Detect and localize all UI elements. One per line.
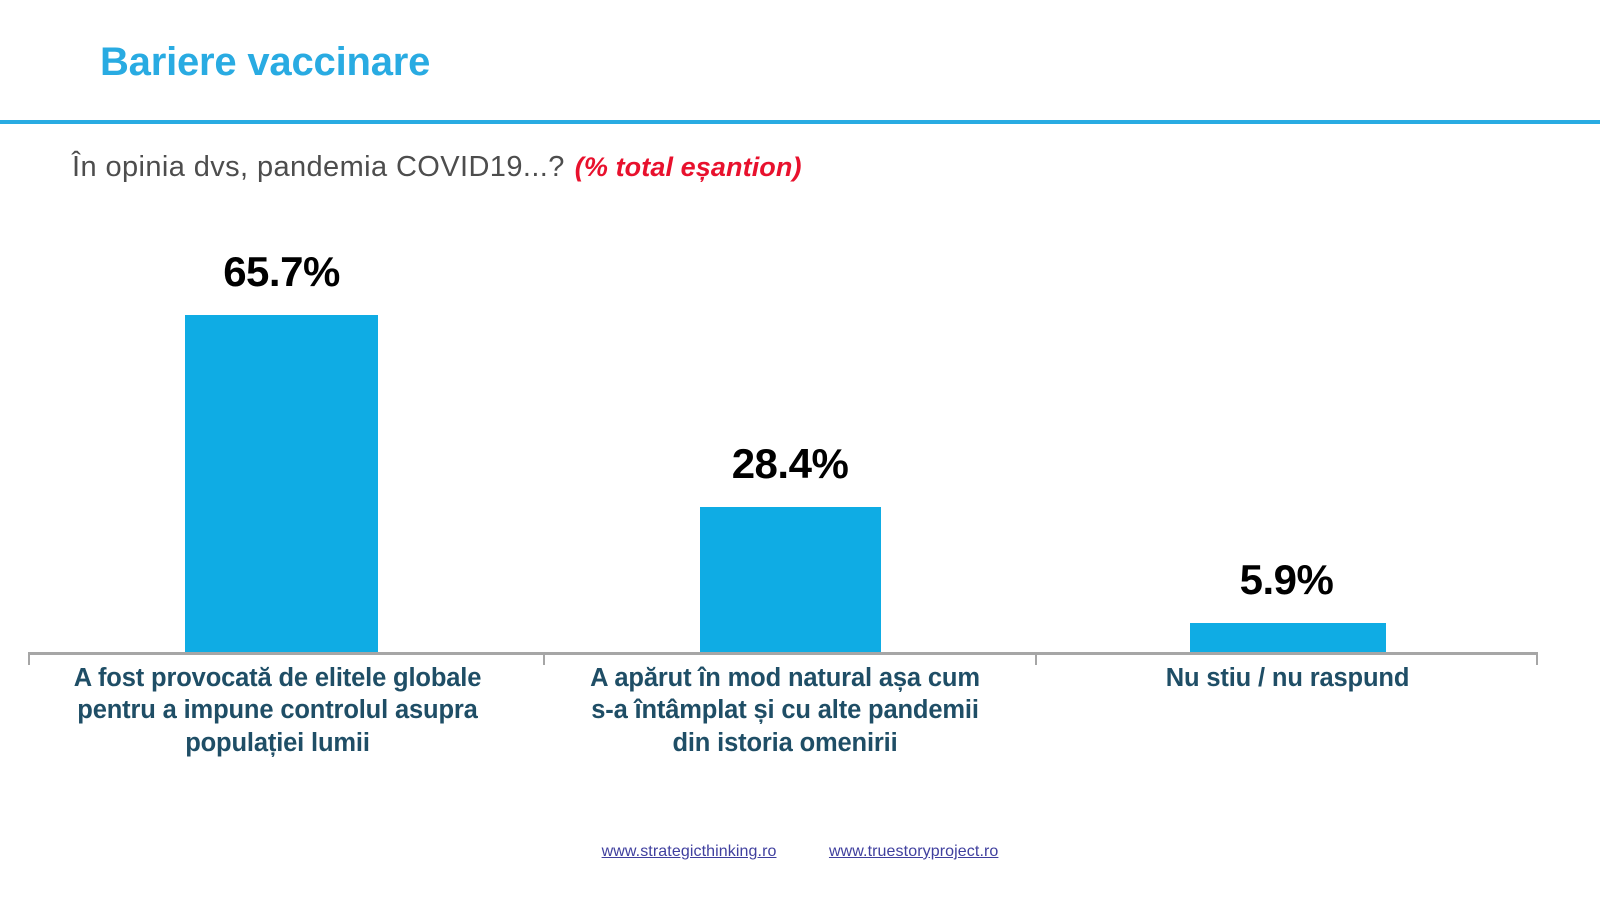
- x-axis-category-label: Nu stiu / nu raspund: [1040, 662, 1535, 694]
- bar-chart: 65.7% 28.4% 5.9% A fost provocată de eli…: [0, 0, 1600, 900]
- x-axis-category-label-line: pentru a impune controlul asupra: [20, 694, 535, 726]
- bar-value-label: 65.7%: [185, 248, 378, 296]
- bar-series-item[interactable]: [1190, 623, 1386, 653]
- x-axis-category-label-line: A apărut în mod natural așa cum: [535, 662, 1035, 694]
- x-axis-tick: [1035, 652, 1037, 665]
- x-axis-line: [28, 652, 1538, 655]
- footer-link-strategicthinking[interactable]: www.strategicthinking.ro: [602, 843, 777, 861]
- bar-value-label: 5.9%: [1188, 556, 1385, 604]
- bar-value-label: 28.4%: [690, 440, 890, 488]
- x-axis-category-label-line: din istoria omenirii: [535, 727, 1035, 759]
- bar-series-item[interactable]: [700, 507, 881, 653]
- x-axis-category-label: A apărut în mod natural așa cum s-a întâ…: [535, 662, 1035, 759]
- x-axis-tick: [1536, 652, 1538, 665]
- bar-series-item[interactable]: [185, 315, 378, 653]
- x-axis-category-label-line: s-a întâmplat și cu alte pandemii: [535, 694, 1035, 726]
- x-axis-category-label: A fost provocată de elitele globale pent…: [20, 662, 535, 759]
- x-axis-category-label-line: A fost provocată de elitele globale: [20, 662, 535, 694]
- footer: www.strategicthinking.ro www.truestorypr…: [0, 843, 1600, 861]
- x-axis-category-label-line: populației lumii: [20, 727, 535, 759]
- footer-link-truestoryproject[interactable]: www.truestoryproject.ro: [829, 843, 998, 861]
- x-axis-category-label-line: Nu stiu / nu raspund: [1040, 662, 1535, 694]
